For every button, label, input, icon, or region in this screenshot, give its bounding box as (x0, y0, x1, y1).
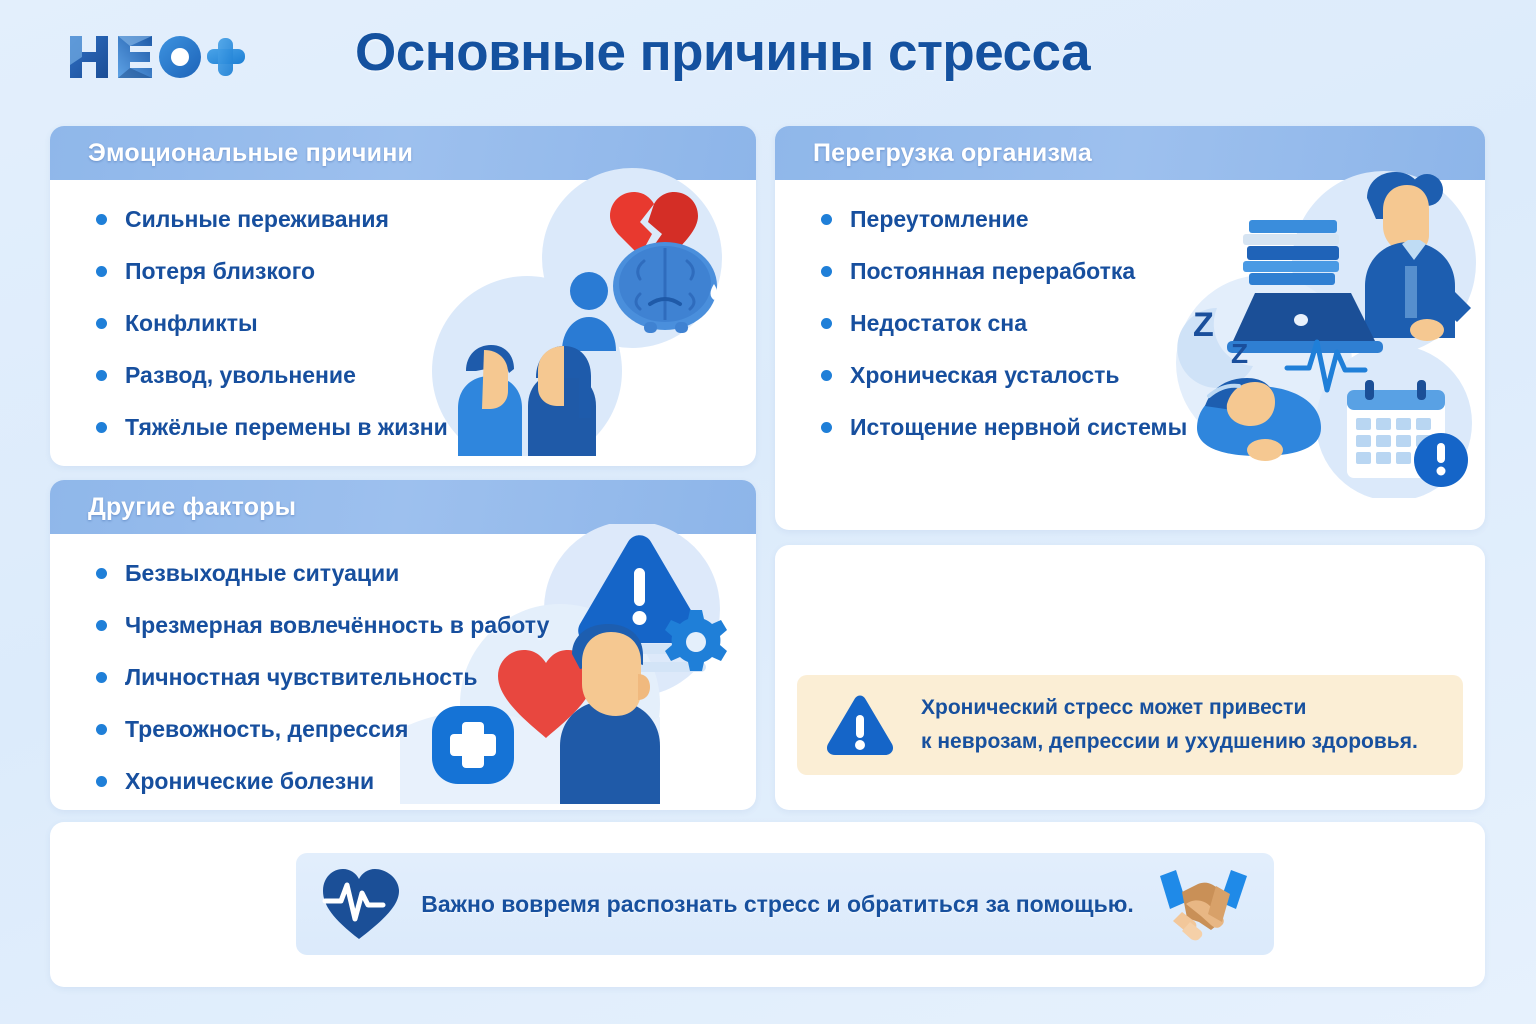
bullet-dot-icon (96, 776, 107, 787)
list-item-label: Хронические болезни (125, 768, 374, 795)
card-body-overload-inner: Z Z (775, 180, 1485, 530)
bullet-dot-icon (821, 214, 832, 225)
footer-text: Важно вовремя распознать стресс и обрати… (421, 891, 1134, 918)
bullet-dot-icon (821, 422, 832, 433)
bullet-dot-icon (96, 672, 107, 683)
card-emotional-causes: Эмоциональные причини (50, 126, 756, 466)
list-item-label: Истощение нервной системы (850, 414, 1187, 441)
card-body-other: Безвыходные ситуации Чрезмерная вовлечён… (50, 534, 756, 810)
card-header-overload: Перегрузка организма (775, 126, 1485, 180)
card-header-other: Другие факторы (50, 480, 756, 534)
list-item: Сильные переживания (96, 206, 756, 233)
list-item-label: Личностная чувствительность (125, 664, 478, 691)
list-item: Тяжёлые перемены в жизни (96, 414, 756, 441)
card-warning: Хронический стресс может привести к невр… (775, 545, 1485, 810)
warning-line-1: Хронический стресс может привести (921, 691, 1418, 725)
bullet-dot-icon (821, 266, 832, 277)
bullet-dot-icon (96, 318, 107, 329)
list-item: Развод, увольнение (96, 362, 756, 389)
list-item-label: Переутомление (850, 206, 1029, 233)
list-item-label: Тяжёлые перемены в жизни (125, 414, 448, 441)
bullet-dot-icon (96, 620, 107, 631)
bullet-list-other: Безвыходные ситуации Чрезмерная вовлечён… (50, 560, 756, 795)
list-item-label: Безвыходные ситуации (125, 560, 399, 587)
list-item-label: Тревожность, депрессия (125, 716, 408, 743)
page-title: Основные причины стресса (355, 22, 1155, 83)
list-item-label: Постоянная переработка (850, 258, 1135, 285)
list-item-label: Сильные переживания (125, 206, 389, 233)
bullet-dot-icon (96, 724, 107, 735)
page-header: Основные причины стресса (0, 0, 1536, 118)
list-item: Хроническая усталость (821, 362, 1485, 389)
footer-banner: Важно вовремя распознать стресс и обрати… (296, 853, 1274, 955)
list-item: Безвыходные ситуации (96, 560, 756, 587)
warning-callout: Хронический стресс может привести к невр… (797, 675, 1463, 775)
brand-logo (62, 28, 247, 86)
neo-plus-logo-icon (62, 28, 247, 86)
heart-pulse-icon (319, 865, 399, 943)
list-item: Переутомление (821, 206, 1485, 233)
handshake-icon (1156, 864, 1251, 944)
bullet-dot-icon (821, 370, 832, 381)
bullet-dot-icon (96, 214, 107, 225)
card-body-overload: Перегрузка организма (775, 126, 1485, 530)
bullet-dot-icon (96, 266, 107, 277)
bullet-dot-icon (96, 422, 107, 433)
warning-triangle-icon (825, 694, 895, 756)
list-item-label: Хроническая усталость (850, 362, 1120, 389)
list-item-label: Конфликты (125, 310, 258, 337)
bullet-list-overload: Переутомление Постоянная переработка Нед… (775, 206, 1485, 441)
card-other-factors: Другие факторы (50, 480, 756, 810)
card-title-overload: Перегрузка организма (813, 139, 1092, 168)
warning-line-2: к неврозам, депрессии и ухудшению здоров… (921, 725, 1418, 759)
warning-text: Хронический стресс может привести к невр… (921, 691, 1418, 758)
bullet-dot-icon (96, 568, 107, 579)
card-title-emotional: Эмоциональные причини (88, 139, 413, 168)
list-item: Постоянная переработка (821, 258, 1485, 285)
list-item-label: Развод, увольнение (125, 362, 356, 389)
card-title-other: Другие факторы (88, 493, 296, 522)
list-item: Чрезмерная вовлечённость в работу (96, 612, 756, 639)
bullet-list-emotional: Сильные переживания Потеря близкого Конф… (50, 206, 756, 441)
list-item-label: Чрезмерная вовлечённость в работу (125, 612, 549, 639)
list-item: Хронические болезни (96, 768, 756, 795)
list-item: Недостаток сна (821, 310, 1485, 337)
bullet-dot-icon (96, 370, 107, 381)
list-item-label: Недостаток сна (850, 310, 1027, 337)
list-item: Истощение нервной системы (821, 414, 1485, 441)
list-item: Тревожность, депрессия (96, 716, 756, 743)
list-item: Потеря близкого (96, 258, 756, 285)
card-body-emotional: Сильные переживания Потеря близкого Конф… (50, 180, 756, 466)
card-header-emotional: Эмоциональные причини (50, 126, 756, 180)
list-item: Конфликты (96, 310, 756, 337)
list-item: Личностная чувствительность (96, 664, 756, 691)
list-item-label: Потеря близкого (125, 258, 315, 285)
bullet-dot-icon (821, 318, 832, 329)
card-footer: Важно вовремя распознать стресс и обрати… (50, 822, 1485, 987)
